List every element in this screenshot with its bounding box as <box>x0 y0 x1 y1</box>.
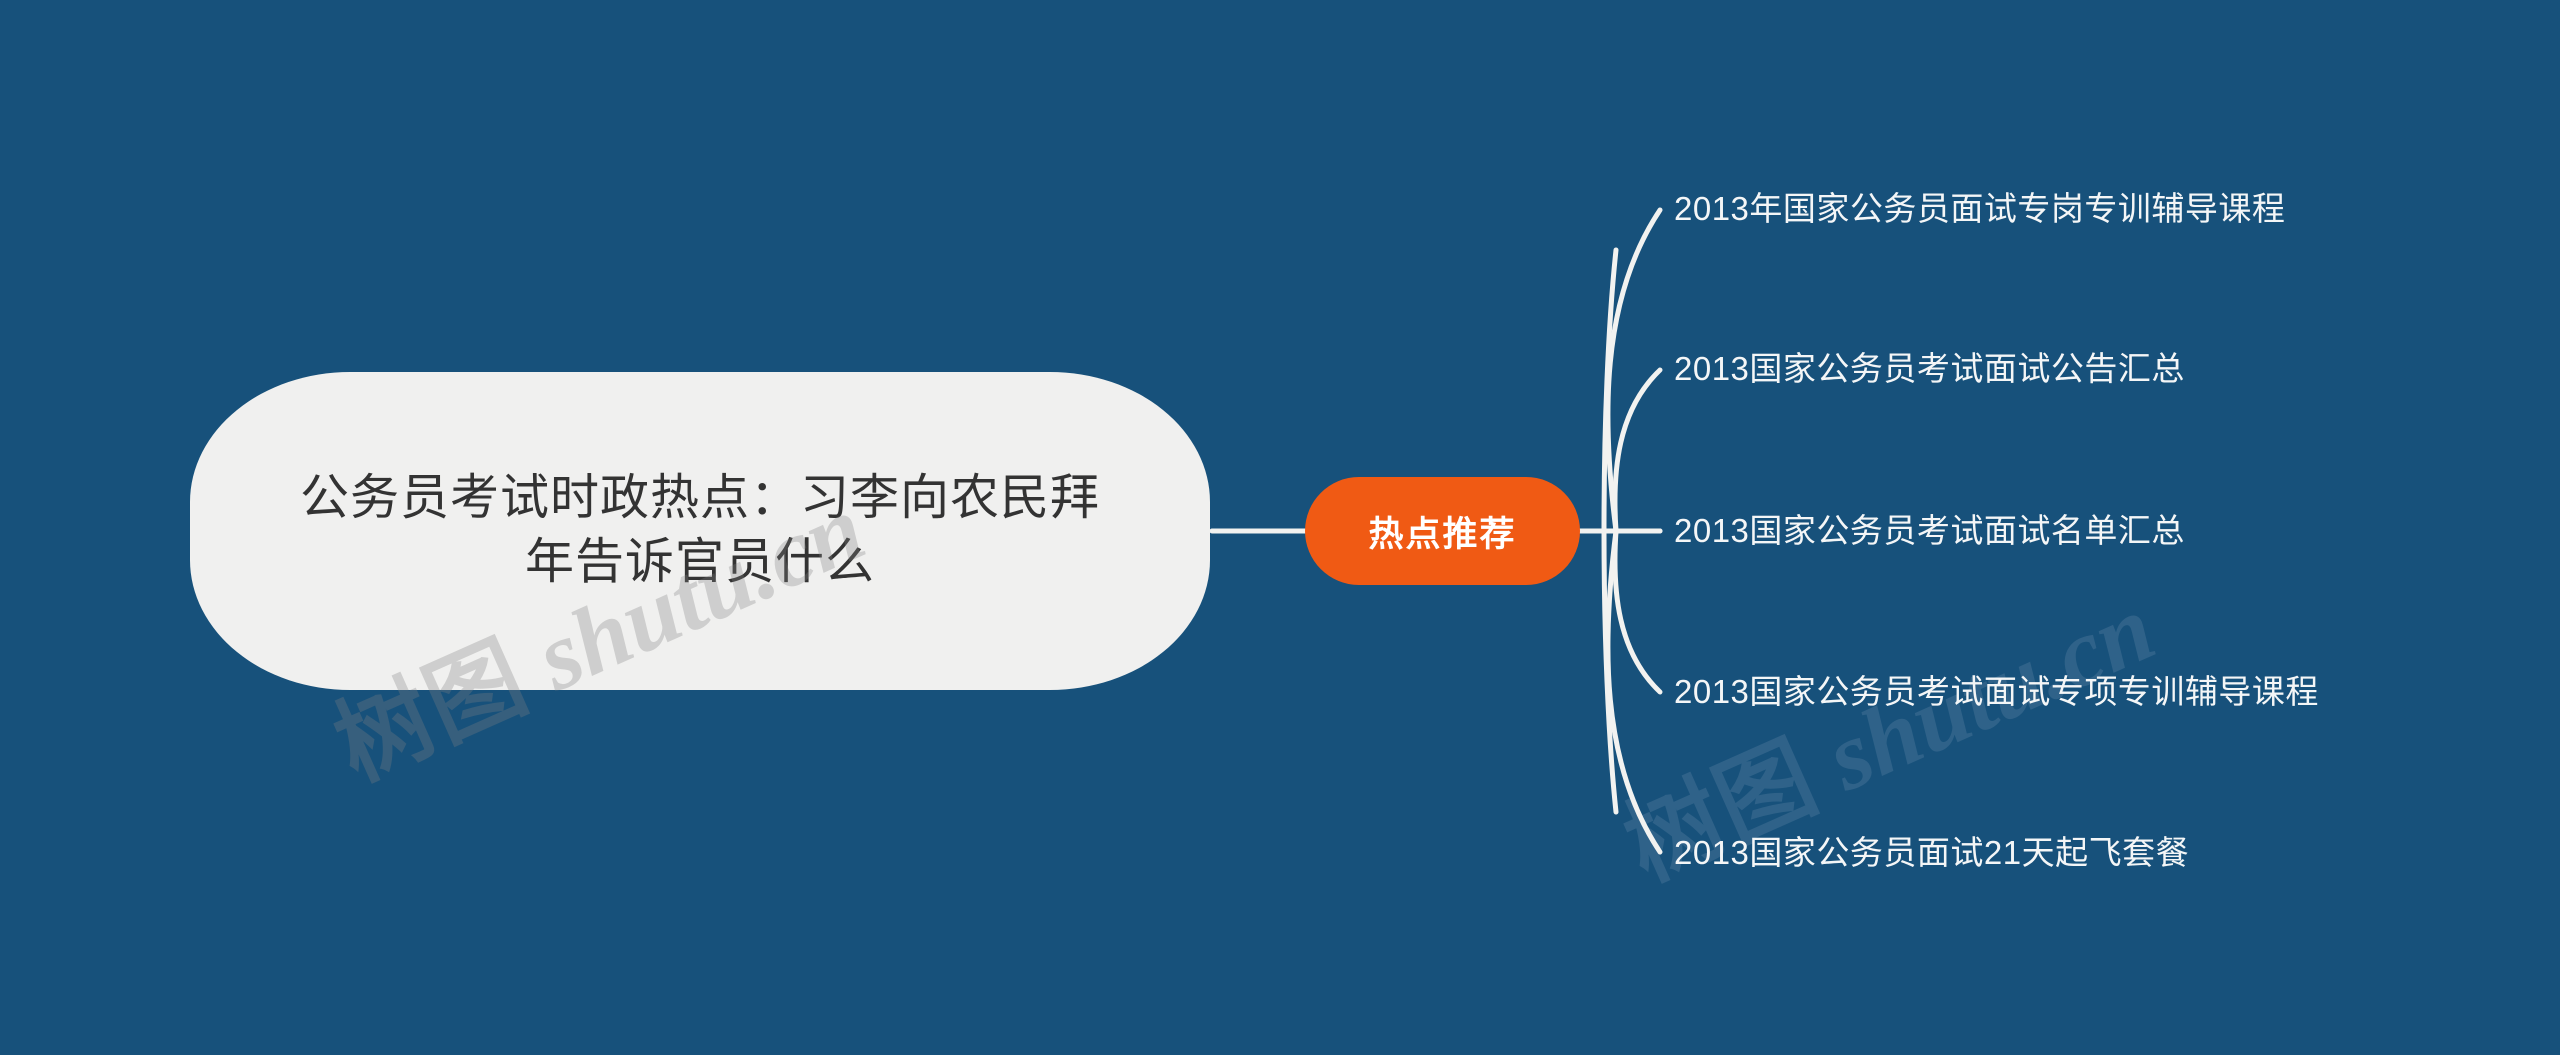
leaf-node-3[interactable]: 2013国家公务员考试面试名单汇总 <box>1674 505 2185 551</box>
root-node[interactable]: 公务员考试时政热点：习李向农民拜年告诉官员什么 <box>190 372 1210 690</box>
leaf-node-4[interactable]: 2013国家公务员考试面试专项专训辅导课程 <box>1674 666 2319 712</box>
branch-node-label: 热点推荐 <box>1368 506 1516 557</box>
root-node-label: 公务员考试时政热点：习李向农民拜年告诉官员什么 <box>286 467 1114 594</box>
leaf-node-2[interactable]: 2013国家公务员考试面试公告汇总 <box>1674 343 2185 389</box>
leaf-node-5[interactable]: 2013国家公务员面试21天起飞套餐 <box>1674 827 2189 873</box>
connector-leaf-2 <box>1615 370 1660 531</box>
mindmap-canvas: 树图 shutu.cn 树图 shutu.cn 公务员考试时政热点：习李向农民拜… <box>0 0 2560 1055</box>
branch-node-hot-recommendations[interactable]: 热点推荐 <box>1305 477 1580 585</box>
leaf-node-4-label: 2013国家公务员考试面试专项专训辅导课程 <box>1674 665 2319 713</box>
leaf-node-1[interactable]: 2013年国家公务员面试专岗专训辅导课程 <box>1674 183 2285 229</box>
leaf-node-3-label: 2013国家公务员考试面试名单汇总 <box>1674 504 2185 552</box>
leaf-node-1-label: 2013年国家公务员面试专岗专训辅导课程 <box>1674 182 2285 230</box>
leaf-node-5-label: 2013国家公务员面试21天起飞套餐 <box>1674 826 2189 874</box>
connector-leaf-4 <box>1615 531 1660 692</box>
leaf-node-2-label: 2013国家公务员考试面试公告汇总 <box>1674 342 2185 390</box>
